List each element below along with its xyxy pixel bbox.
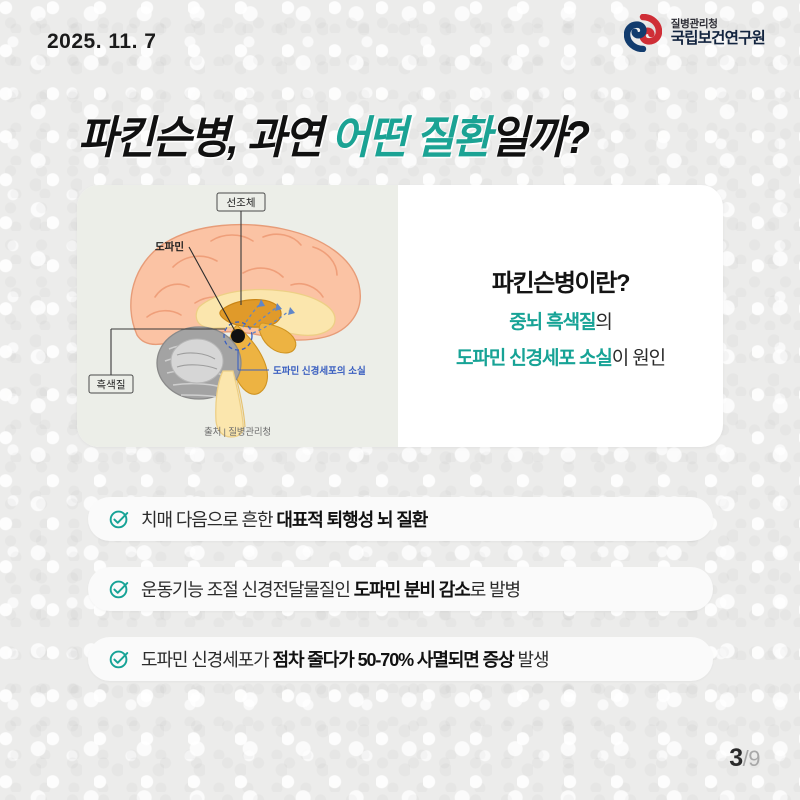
bullet-2-bold: 도파민 분비 감소 xyxy=(354,580,470,600)
card-line-1-tail: 의 xyxy=(595,312,611,333)
bullet-3-regular-1: 도파민 신경세포가 xyxy=(141,650,272,670)
label-substantia-nigra: 흑색질 xyxy=(97,378,126,391)
bullet-text-1: 치매 다음으로 흔한 대표적 퇴행성 뇌 질환 xyxy=(141,506,427,532)
card-heading: 파킨슨병이란? xyxy=(492,263,629,298)
publication-date: 2025. 11. 7 xyxy=(47,30,156,54)
check-circle-icon xyxy=(108,648,130,670)
card-text-panel: 파킨슨병이란? 중뇌 흑색질의 도파민 신경세포 소실이 원인 xyxy=(398,185,723,447)
logo-institute-name: 국립보건연구원 xyxy=(671,30,765,48)
main-content-card: 선조체 도파민 흑색질 도파민 신경세포의 소실 출처 | 질병관리청 파킨슨병… xyxy=(77,185,723,447)
brain-sagittal-diagram: 선조체 도파민 흑색질 도파민 신경세포의 소실 xyxy=(77,185,398,447)
bullet-item-1: 치매 다음으로 흔한 대표적 퇴행성 뇌 질환 xyxy=(88,497,713,541)
bullet-1-bold: 대표적 퇴행성 뇌 질환 xyxy=(276,510,427,530)
bullet-item-3: 도파민 신경세포가 점차 줄다가 50-70% 사멸되면 증상 발생 xyxy=(88,637,713,681)
brain-diagram-panel: 선조체 도파민 흑색질 도파민 신경세포의 소실 출처 | 질병관리청 xyxy=(77,185,398,447)
page-title: 파킨슨병, 과연 어떤 질환일까? xyxy=(78,101,588,166)
bullet-2-regular-1: 운동기능 조절 신경전달물질인 xyxy=(141,580,354,600)
logo-agency-name: 질병관리청 xyxy=(671,18,765,30)
card-line-2: 도파민 신경세포 소실이 원인 xyxy=(456,343,665,370)
bullet-text-3: 도파민 신경세포가 점차 줄다가 50-70% 사멸되면 증상 발생 xyxy=(141,646,548,672)
title-part-2: 일까? xyxy=(490,112,589,163)
bullet-item-2: 운동기능 조절 신경전달물질인 도파민 분비 감소로 발병 xyxy=(88,567,713,611)
check-circle-icon xyxy=(108,508,130,530)
check-circle-icon xyxy=(108,578,130,600)
title-part-1: 파킨슨병, 과연 xyxy=(78,112,331,163)
bullet-2-regular-2: 로 발병 xyxy=(470,580,520,600)
korea-taegeuk-icon xyxy=(624,14,662,52)
card-line-2-highlight: 도파민 신경세포 소실 xyxy=(456,348,612,369)
bullet-1-regular-1: 치매 다음으로 흔한 xyxy=(141,510,276,530)
bullet-3-bold: 점차 줄다가 50-70% 사멸되면 증상 xyxy=(272,650,513,670)
page-current: 3 xyxy=(729,744,742,772)
title-highlight: 어떤 질환 xyxy=(331,112,490,163)
page-number: 3/9 xyxy=(729,744,760,773)
card-line-1: 중뇌 흑색질의 xyxy=(509,307,611,334)
label-cell-loss: 도파민 신경세포의 소실 xyxy=(273,365,366,377)
page-total: /9 xyxy=(743,746,760,771)
card-line-1-highlight: 중뇌 흑색질 xyxy=(509,312,595,333)
bullet-3-regular-2: 발생 xyxy=(514,650,549,670)
agency-logo: 질병관리청 국립보건연구원 xyxy=(624,14,765,52)
infographic-card: 2025. 11. 7 질병관리청 국립보건연구원 파킨슨병, 과연 어떤 질환… xyxy=(0,0,800,800)
card-line-2-tail: 이 원인 xyxy=(612,348,665,369)
bullet-text-2: 운동기능 조절 신경전달물질인 도파민 분비 감소로 발병 xyxy=(141,576,520,602)
label-striatum: 선조체 xyxy=(227,197,256,209)
label-dopamine: 도파민 xyxy=(155,240,184,253)
image-source-credit: 출처 | 질병관리청 xyxy=(77,424,398,438)
